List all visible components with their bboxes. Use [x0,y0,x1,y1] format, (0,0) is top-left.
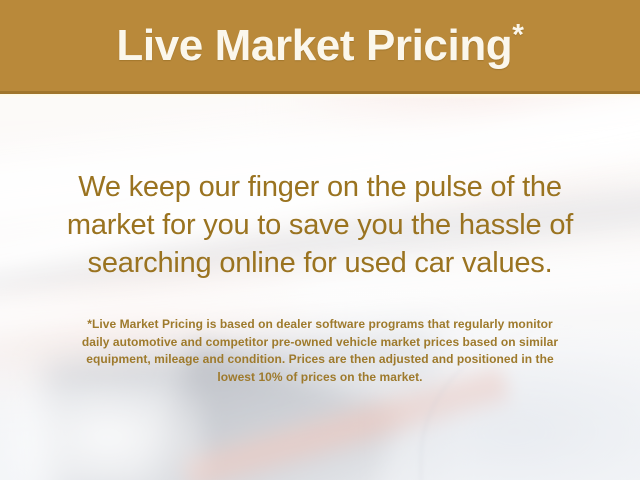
header-band: Live Market Pricing* [0,0,640,94]
disclaimer-line-1: *Live Market Pricing is based on dealer … [0,316,640,334]
headline-line-2: market for you to save you the hassle of [0,206,640,244]
headline-line-1: We keep our finger on the pulse of the [0,168,640,206]
headline-block: We keep our finger on the pulse of the m… [0,168,640,282]
disclaimer-line-2: daily automotive and competitor pre-owne… [0,334,640,352]
disclaimer-line-3: equipment, mileage and condition. Prices… [0,351,640,369]
page-title: Live Market Pricing* [116,24,523,68]
page-title-asterisk: * [512,18,523,51]
page-title-text: Live Market Pricing [116,21,512,70]
headline-line-3: searching online for used car values. [0,244,640,282]
content-area: We keep our finger on the pulse of the m… [0,94,640,480]
disclaimer-block: *Live Market Pricing is based on dealer … [0,316,640,386]
live-market-pricing-slide: Live Market Pricing* We keep our finger … [0,0,640,480]
disclaimer-line-4: lowest 10% of prices on the market. [0,369,640,387]
